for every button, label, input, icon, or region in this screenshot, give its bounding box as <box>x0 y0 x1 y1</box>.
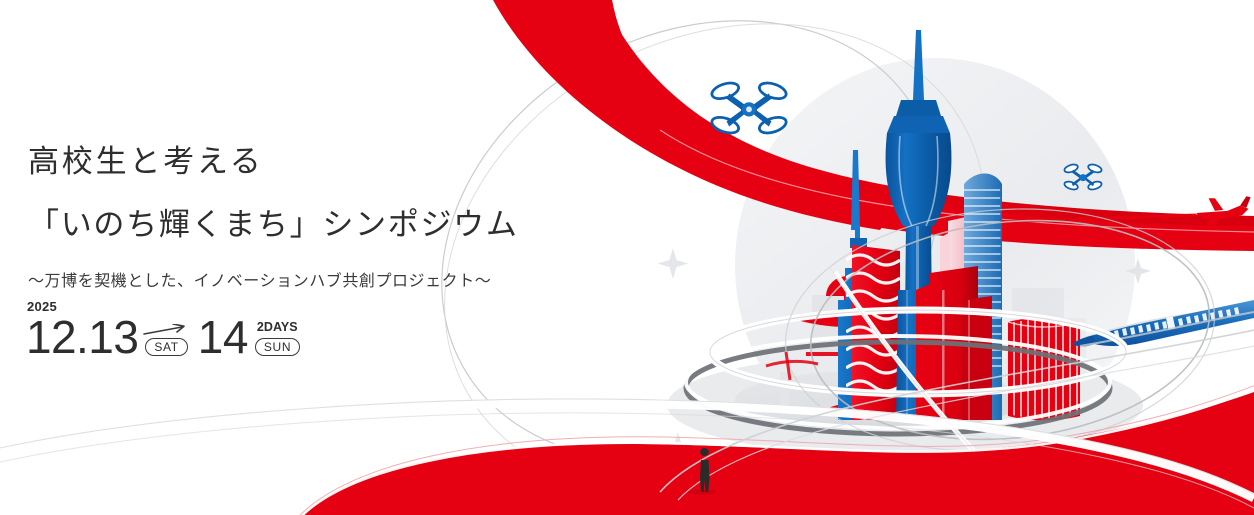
headline-subtitle: 〜万博を契機とした、イノベーションハブ共創プロジェクト〜 <box>28 267 628 291</box>
date-start-group: 2025 12.13 SAT <box>26 316 188 358</box>
event-banner: 高校生と考える 「いのち輝くまち」シンポジウム 〜万博を契機とした、イノベーショ… <box>0 0 1254 515</box>
end-day-wrap: 2DAYS SUN <box>255 338 300 359</box>
headline-line1: 高校生と考える <box>28 146 628 177</box>
start-day-badge: SAT <box>145 338 187 356</box>
date-end-group: 14 2DAYS SUN <box>198 316 300 358</box>
end-date: 14 <box>198 316 248 358</box>
end-day-badge: SUN <box>255 338 300 356</box>
event-year: 2025 <box>27 300 57 313</box>
arrow-icon <box>143 324 187 338</box>
start-day-wrap: SAT <box>145 338 187 359</box>
event-date: 2025 12.13 SAT 14 2DAYS SUN <box>26 316 300 358</box>
start-date: 12.13 <box>26 316 138 358</box>
duration-label: 2DAYS <box>257 321 298 334</box>
headline-block: 高校生と考える 「いのち輝くまち」シンポジウム 〜万博を契機とした、イノベーショ… <box>28 146 628 291</box>
headline-line2: 「いのち輝くまち」シンポジウム <box>28 209 628 240</box>
ribbed-cylinder <box>1008 310 1080 430</box>
